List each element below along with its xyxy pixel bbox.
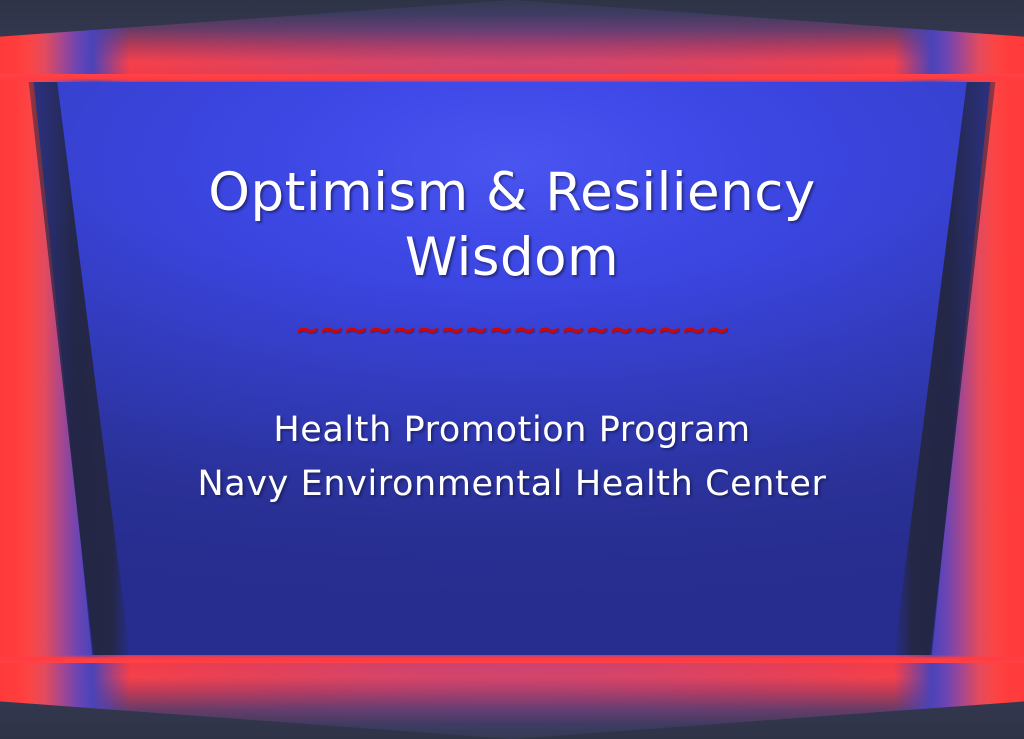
- subtitle-line-organization-program: Health Promotion Program: [102, 404, 922, 457]
- slide-title: Optimism & Resiliency Wisdom: [132, 160, 892, 290]
- title-block: Optimism & Resiliency Wisdom: [132, 160, 892, 290]
- presentation-slide: Optimism & Resiliency Wisdom ~~~~~~~~~~~…: [0, 0, 1024, 739]
- slide-text-content: Optimism & Resiliency Wisdom ~~~~~~~~~~~…: [0, 82, 1024, 655]
- subtitle-block: Health Promotion Program Navy Environmen…: [102, 404, 922, 510]
- subtitle-line-organization-center: Navy Environmental Health Center: [102, 458, 922, 511]
- squiggle-divider: ~~~~~~~~~~~~~~~~~~: [295, 316, 729, 346]
